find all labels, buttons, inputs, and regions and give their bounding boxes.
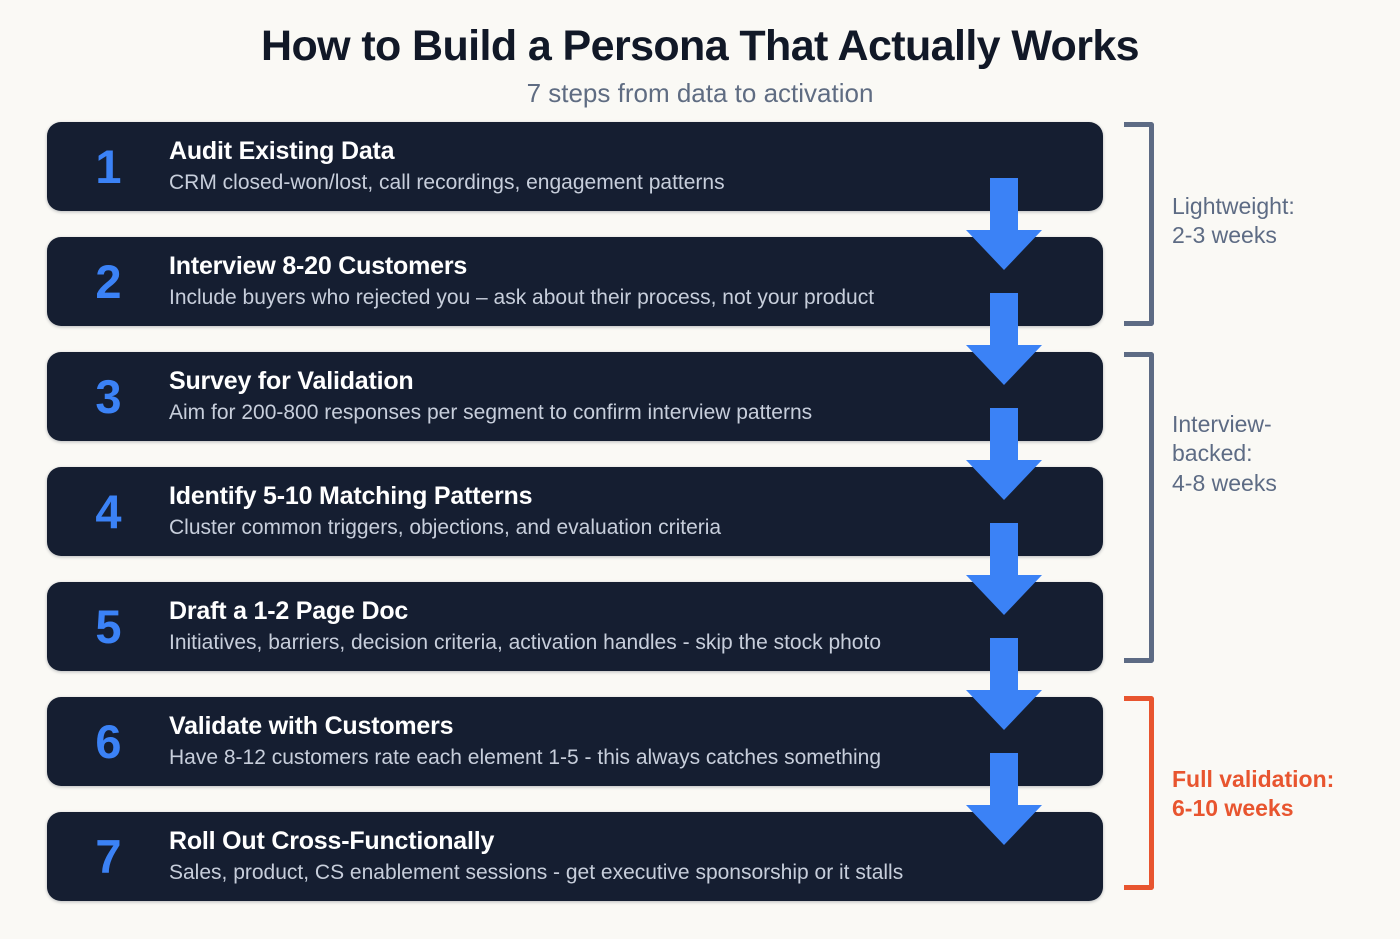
infographic-header: How to Build a Persona That Actually Wor… (0, 0, 1400, 109)
step-text-3: Survey for Validation Aim for 200-800 re… (169, 367, 1103, 425)
step-number-2: 2 (47, 258, 169, 305)
page-subtitle: 7 steps from data to activation (0, 70, 1400, 109)
step-card-7[interactable]: 7 Roll Out Cross-Functionally Sales, pro… (47, 812, 1103, 901)
step-heading-1: Audit Existing Data (169, 137, 1083, 167)
step-heading-7: Roll Out Cross-Functionally (169, 827, 1083, 857)
phase-label-lightweight: Lightweight: 2-3 weeks (1172, 192, 1295, 251)
step-heading-6: Validate with Customers (169, 712, 1083, 742)
step-text-2: Interview 8-20 Customers Include buyers … (169, 252, 1103, 310)
step-heading-3: Survey for Validation (169, 367, 1083, 397)
step-number-5: 5 (47, 603, 169, 650)
step-number-1: 1 (47, 143, 169, 190)
step-card-4[interactable]: 4 Identify 5-10 Matching Patterns Cluste… (47, 467, 1103, 556)
step-text-1: Audit Existing Data CRM closed-won/lost,… (169, 137, 1103, 195)
step-card-3[interactable]: 3 Survey for Validation Aim for 200-800 … (47, 352, 1103, 441)
step-description-2: Include buyers who rejected you – ask ab… (169, 286, 1083, 311)
steps-list: 1 Audit Existing Data CRM closed-won/los… (47, 122, 1103, 901)
step-number-4: 4 (47, 488, 169, 535)
step-number-7: 7 (47, 833, 169, 880)
phase-bracket-full-validation (1124, 696, 1154, 890)
step-heading-5: Draft a 1-2 Page Doc (169, 597, 1083, 627)
step-card-2[interactable]: 2 Interview 8-20 Customers Include buyer… (47, 237, 1103, 326)
phase-label-interview-backed: Interview- backed: 4-8 weeks (1172, 410, 1277, 498)
step-description-4: Cluster common triggers, objections, and… (169, 516, 1083, 541)
phase-bracket-lightweight (1124, 122, 1154, 326)
step-description-5: Initiatives, barriers, decision criteria… (169, 631, 1083, 656)
step-text-5: Draft a 1-2 Page Doc Initiatives, barrie… (169, 597, 1103, 655)
step-description-7: Sales, product, CS enablement sessions -… (169, 861, 1083, 886)
step-card-5[interactable]: 5 Draft a 1-2 Page Doc Initiatives, barr… (47, 582, 1103, 671)
step-description-1: CRM closed-won/lost, call recordings, en… (169, 171, 1083, 196)
step-description-3: Aim for 200-800 responses per segment to… (169, 401, 1083, 426)
phase-label-full-validation: Full validation: 6-10 weeks (1172, 765, 1334, 824)
step-heading-4: Identify 5-10 Matching Patterns (169, 482, 1083, 512)
step-text-4: Identify 5-10 Matching Patterns Cluster … (169, 482, 1103, 540)
step-text-6: Validate with Customers Have 8-12 custom… (169, 712, 1103, 770)
step-description-6: Have 8-12 customers rate each element 1-… (169, 746, 1083, 771)
step-number-3: 3 (47, 373, 169, 420)
step-text-7: Roll Out Cross-Functionally Sales, produ… (169, 827, 1103, 885)
step-number-6: 6 (47, 718, 169, 765)
page-title: How to Build a Persona That Actually Wor… (0, 0, 1400, 70)
step-card-1[interactable]: 1 Audit Existing Data CRM closed-won/los… (47, 122, 1103, 211)
step-card-6[interactable]: 6 Validate with Customers Have 8-12 cust… (47, 697, 1103, 786)
phase-bracket-interview-backed (1124, 352, 1154, 663)
step-heading-2: Interview 8-20 Customers (169, 252, 1083, 282)
